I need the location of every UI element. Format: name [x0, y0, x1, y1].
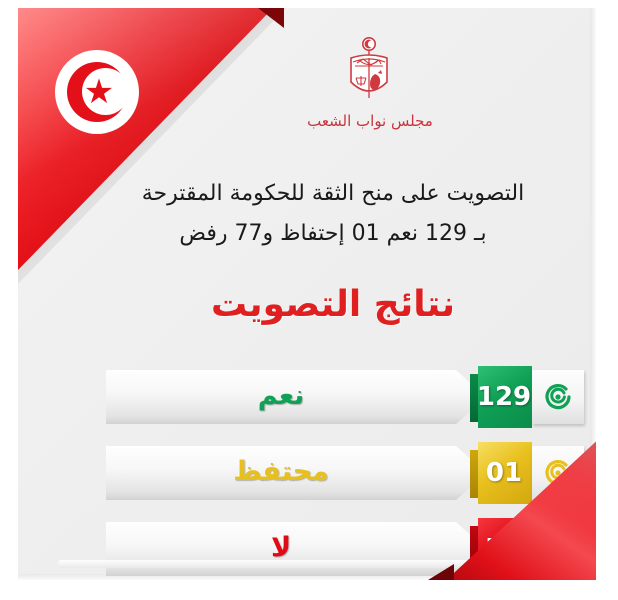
- poster-root: ★ مجلس نوا: [0, 0, 618, 600]
- target-spiral-icon: [542, 381, 574, 413]
- result-count-yes: 129: [476, 366, 532, 428]
- headline-line-2: بـ 129 نعم 01 إحتفاظ و77 رفض: [78, 214, 588, 254]
- result-icon-plate-no: [532, 522, 584, 576]
- result-label-abstain: محتفظ: [106, 446, 456, 500]
- result-row-abstain: محتفظ 01: [18, 442, 596, 504]
- tunisia-flag-icon: ★: [55, 50, 139, 134]
- poster-card: ★ مجلس نوا: [18, 8, 596, 580]
- result-row-no: لا 77: [18, 518, 596, 580]
- results-list: نعم 129: [18, 360, 596, 580]
- headline-line-1: التصويت على منح الثقة للحكومة المقترحة: [78, 174, 588, 214]
- result-icon-plate-abstain: [532, 446, 584, 500]
- result-count-block-abstain: 01: [470, 442, 532, 504]
- target-spiral-icon: [542, 533, 574, 565]
- result-count-abstain: 01: [476, 442, 532, 504]
- tunisia-coat-of-arms-icon: [323, 36, 415, 118]
- bottom-highlight-strip: [58, 560, 488, 568]
- headline: التصويت على منح الثقة للحكومة المقترحة ب…: [78, 174, 588, 254]
- result-count-block-yes: 129: [470, 366, 532, 428]
- result-count-block-no: 77: [470, 518, 532, 580]
- corner-tip: [258, 8, 284, 28]
- target-spiral-icon: [542, 457, 574, 489]
- result-icon-plate-yes: [532, 370, 584, 424]
- result-row-yes: نعم 129: [18, 366, 596, 428]
- emblem-caption: مجلس نواب الشعب: [280, 112, 460, 130]
- flag-star-icon: ★: [82, 75, 116, 109]
- page-title: نتائج التصويت: [78, 284, 588, 325]
- result-label-yes: نعم: [106, 370, 456, 424]
- result-count-no: 77: [476, 518, 532, 580]
